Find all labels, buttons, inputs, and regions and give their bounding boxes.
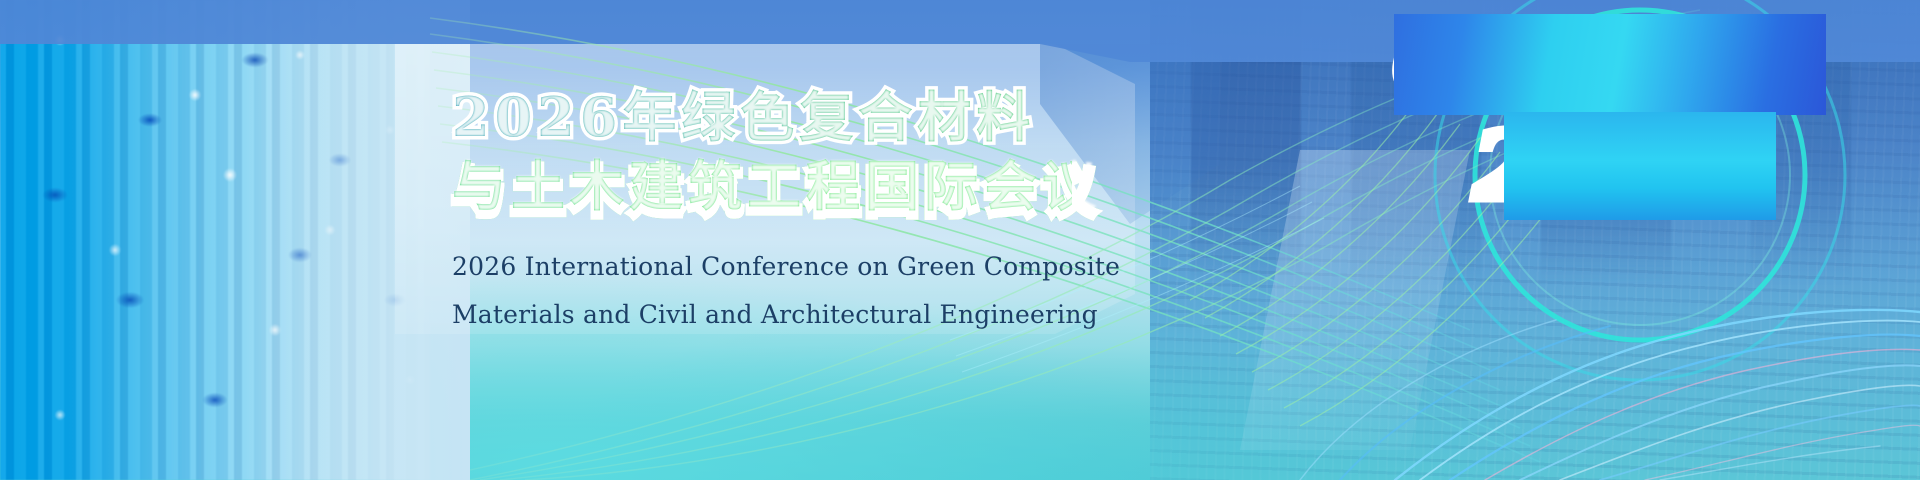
conference-title-block: 2026年绿色复合材料 2026年绿色复合材料 与土木建筑工程国际会议 与土木建… — [452, 86, 1072, 338]
conference-banner: 2026年绿色复合材料 2026年绿色复合材料 与土木建筑工程国际会议 与土木建… — [0, 0, 1920, 480]
logo-year-wrap: 2026 2026 — [1340, 120, 1880, 212]
logo-acronym: GCMCA — [1394, 14, 1826, 115]
title-cn-line2: 与土木建筑工程国际会议 — [452, 155, 1072, 218]
title-cn-line2-wrap: 与土木建筑工程国际会议 与土木建筑工程国际会议 — [452, 155, 1072, 218]
conference-logo: GCMCA GCMCA 2026 2026 — [1340, 22, 1880, 212]
title-cn-line1: 2026年绿色复合材料 — [452, 86, 1072, 149]
logo-acronym-wrap: GCMCA GCMCA — [1340, 22, 1880, 108]
title-en-line2: Materials and Civil and Architectural En… — [452, 291, 1072, 339]
title-cn-line1-wrap: 2026年绿色复合材料 2026年绿色复合材料 — [452, 86, 1072, 149]
logo-year: 2026 — [1504, 112, 1776, 220]
title-en-line1: 2026 International Conference on Green C… — [452, 243, 1072, 291]
